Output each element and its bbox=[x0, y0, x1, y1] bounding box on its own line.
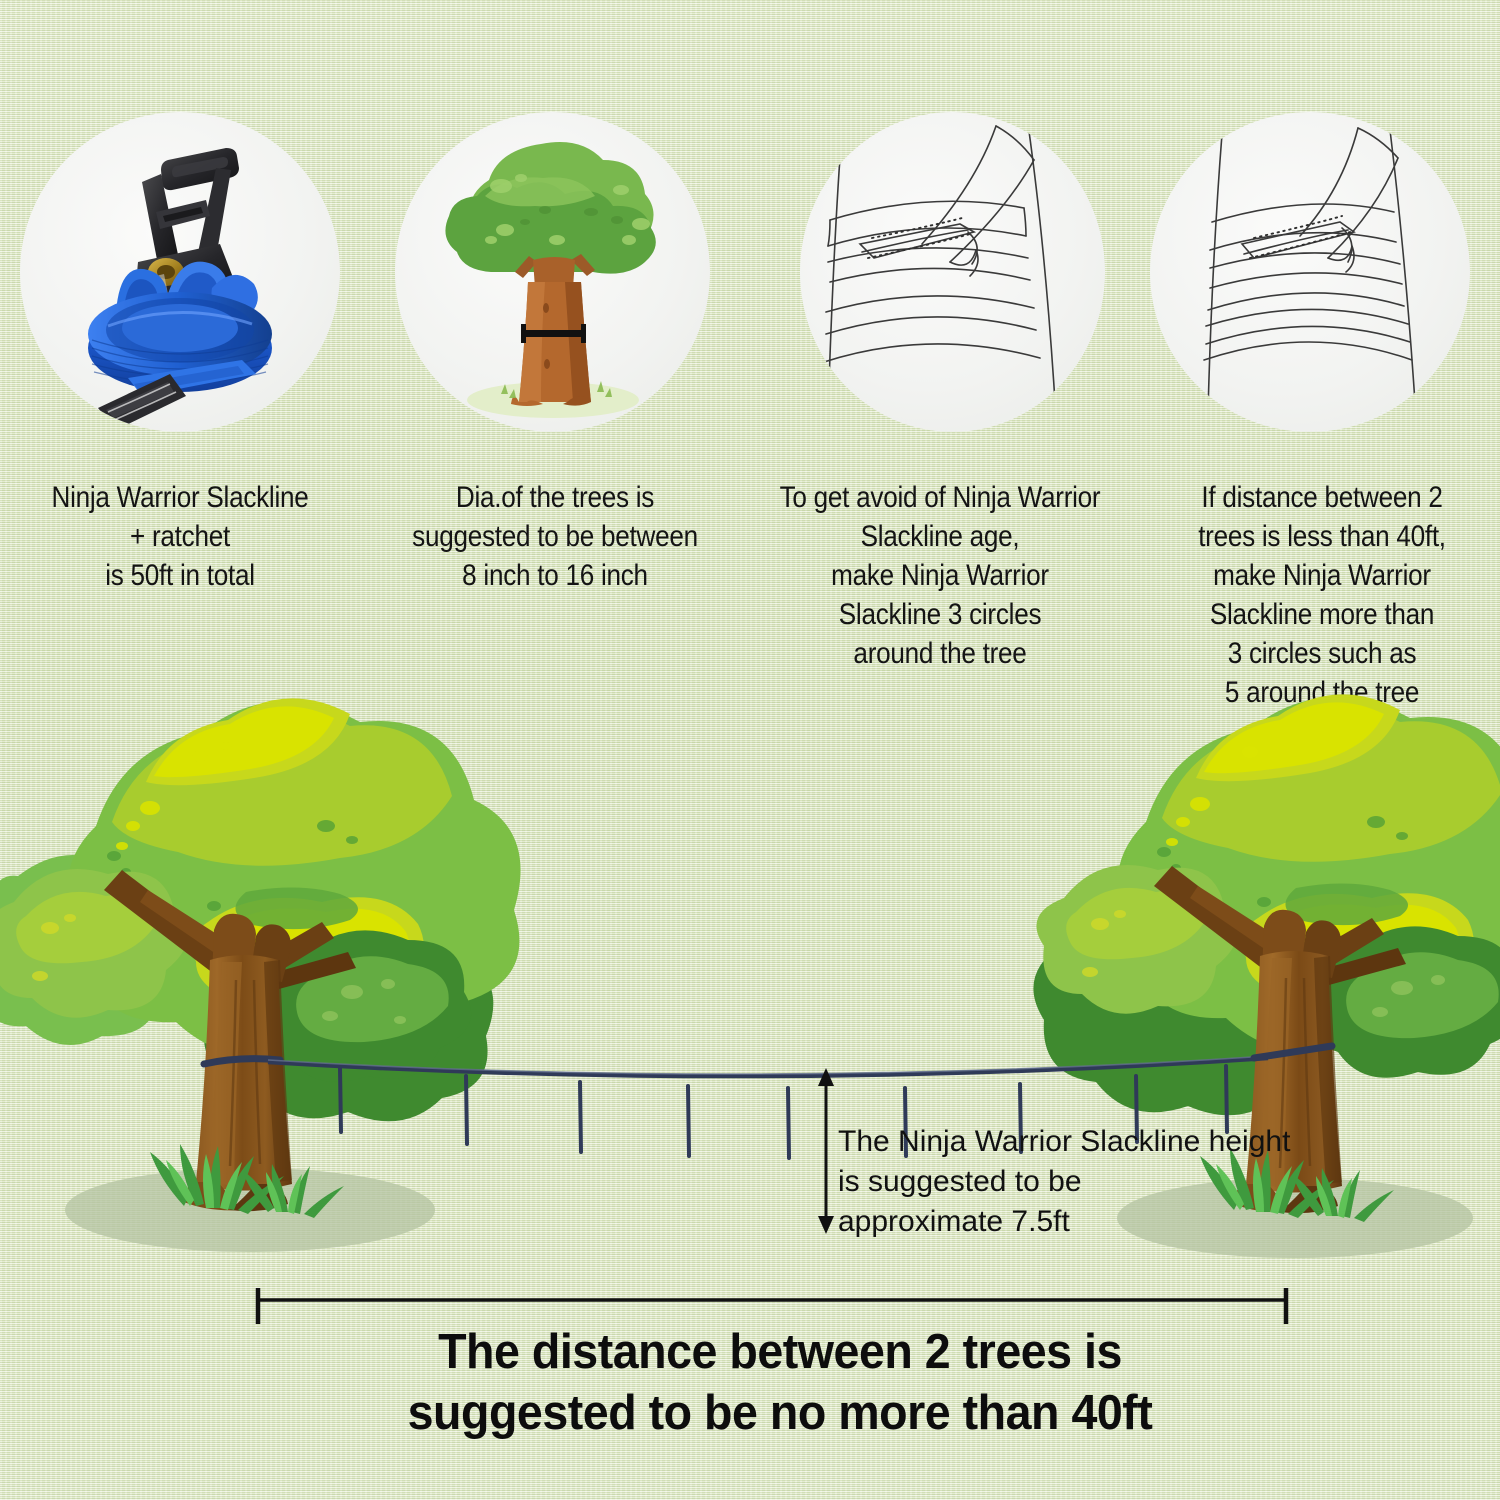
slackline-height-annotation: The Ninja Warrior Slackline height is su… bbox=[838, 1122, 1308, 1242]
step-2-caption: Dia.of the trees is suggested to be betw… bbox=[398, 478, 713, 595]
steps-row bbox=[0, 0, 1500, 470]
step-3-image-strap-wrap-icon bbox=[800, 112, 1105, 432]
step-2-image-tree-diameter-icon bbox=[395, 112, 710, 432]
step-1-image-slackline-ratchet-icon bbox=[20, 112, 340, 432]
height-arrow bbox=[818, 1068, 834, 1234]
step-4-image-strap-multi-wrap-icon bbox=[1150, 112, 1470, 432]
tree-distance-annotation: The distance between 2 trees is suggeste… bbox=[277, 1322, 1284, 1444]
distance-bracket bbox=[257, 1288, 1287, 1324]
left-tree bbox=[0, 698, 521, 1252]
infographic-canvas: Ninja Warrior Slackline + ratchet is 50f… bbox=[0, 0, 1500, 1500]
step-1-caption: Ninja Warrior Slackline + ratchet is 50f… bbox=[23, 478, 336, 595]
tree-canopy bbox=[445, 142, 655, 274]
